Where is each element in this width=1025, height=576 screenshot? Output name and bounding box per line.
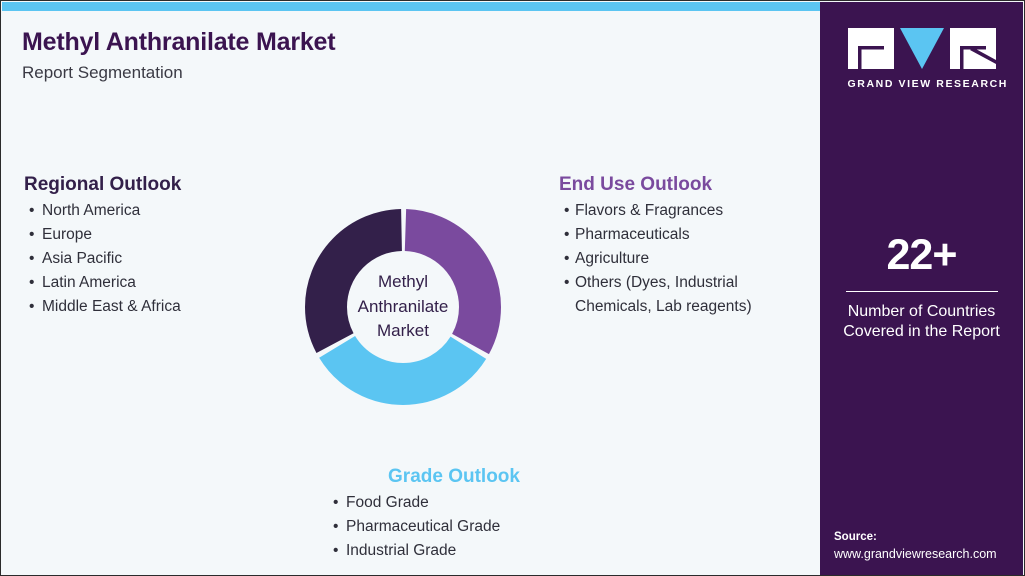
end-use-outlook-title: End Use Outlook	[559, 173, 809, 197]
page-title: Methyl Anthranilate Market	[22, 28, 722, 57]
end-use-outlook-block: End Use Outlook Flavors & Fragrances Pha…	[559, 173, 809, 319]
grade-outlook-title: Grade Outlook	[324, 465, 584, 489]
list-item: Asia Pacific	[28, 247, 274, 271]
regional-outlook-block: Regional Outlook North America Europe As…	[24, 173, 274, 319]
stat-caption-line-2: Covered in the Report	[820, 322, 1023, 342]
end-use-outlook-list: Flavors & Fragrances Pharmaceuticals Agr…	[559, 199, 809, 319]
regional-outlook-title: Regional Outlook	[24, 173, 274, 197]
list-item: Latin America	[28, 271, 274, 295]
regional-outlook-list: North America Europe Asia Pacific Latin …	[24, 199, 274, 319]
list-item: Middle East & Africa	[28, 295, 274, 319]
list-item: Pharmaceuticals	[563, 223, 809, 247]
list-item: North America	[28, 199, 274, 223]
main-content-area: Methyl Anthranilate Market Report Segmen…	[2, 11, 821, 575]
grade-outlook-list: Food Grade Pharmaceutical Grade Industri…	[324, 491, 584, 563]
infographic-page: Methyl Anthranilate Market Report Segmen…	[0, 0, 1025, 576]
top-accent-bar	[2, 2, 821, 11]
logo-wordmark: GRAND VIEW RESEARCH	[848, 78, 996, 90]
grade-outlook-block: Grade Outlook Food Grade Pharmaceutical …	[324, 465, 584, 563]
side-panel: GRAND VIEW RESEARCH 22+ Number of Countr…	[820, 2, 1023, 576]
stat-divider	[846, 291, 998, 292]
source-label: Source:	[834, 529, 1019, 545]
list-item: Industrial Grade	[332, 539, 584, 563]
grand-view-research-logo: GRAND VIEW RESEARCH	[848, 26, 996, 90]
title-block: Methyl Anthranilate Market Report Segmen…	[22, 28, 722, 83]
list-item-continuation: Chemicals, Lab reagents)	[575, 295, 809, 319]
page-subtitle: Report Segmentation	[22, 63, 722, 83]
list-item: Agriculture	[563, 247, 809, 271]
list-item: Food Grade	[332, 491, 584, 515]
stat-caption: Number of Countries Covered in the Repor…	[820, 302, 1023, 343]
countries-stat-block: 22+ Number of Countries Covered in the R…	[820, 234, 1023, 343]
list-item: Europe	[28, 223, 274, 247]
list-item: Flavors & Fragrances	[563, 199, 809, 223]
donut-svg	[305, 209, 501, 405]
source-url[interactable]: www.grandviewresearch.com	[834, 546, 1019, 564]
stat-value: 22+	[820, 234, 1023, 277]
list-item-text: Others (Dyes, Industrial	[575, 274, 738, 291]
source-block: Source: www.grandviewresearch.com	[834, 529, 1019, 563]
list-item: Others (Dyes, Industrial Chemicals, Lab …	[563, 271, 809, 319]
stat-caption-line-1: Number of Countries	[820, 302, 1023, 322]
segmentation-donut-chart: Methyl Anthranilate Market	[305, 209, 501, 405]
gvr-logo-icon	[848, 26, 996, 71]
list-item: Pharmaceutical Grade	[332, 515, 584, 539]
